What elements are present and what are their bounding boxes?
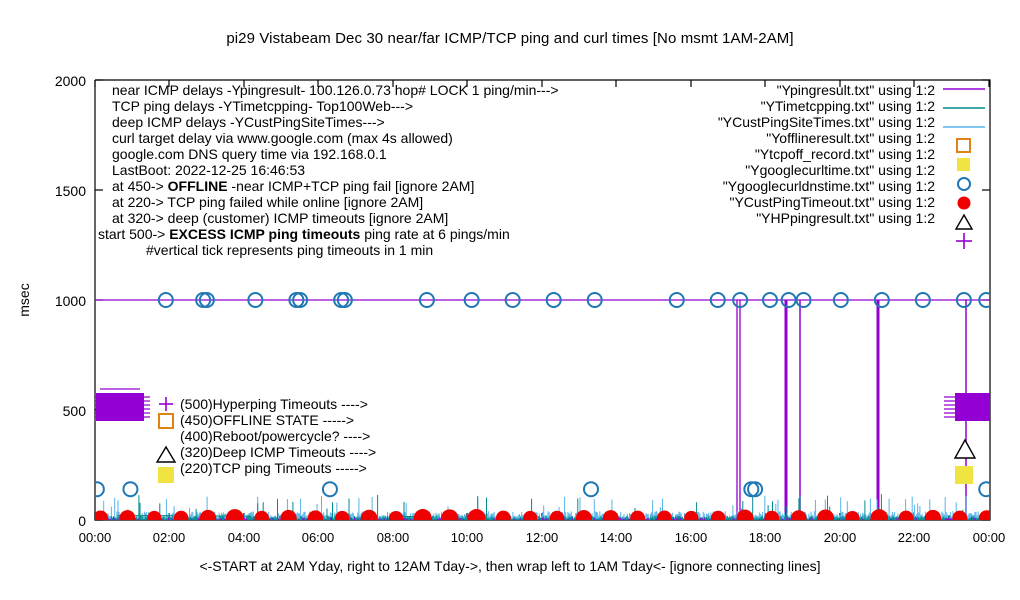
annotation-emphasis: EXCESS ICMP ping timeouts — [169, 226, 360, 242]
annotation-emphasis: OFFLINE — [168, 178, 228, 194]
legend-item-ytcpoff-record: "Ytcpoff_record.txt" using 1:2 — [600, 146, 935, 162]
annotation-line-excess: start 500-> EXCESS ICMP ping timeouts pi… — [98, 226, 559, 242]
legend-item-ygooglecurltime: "Ygooglecurltime.txt" using 1:2 — [600, 162, 935, 178]
annotation-line: TCP ping delays -YTimetcpping- Top100Web… — [112, 98, 559, 114]
legend-item-ycustpingtimeout: "YCustPingTimeout.txt" using 1:2 — [600, 194, 935, 210]
inner-key-item-deep-icmp: (320)Deep ICMP Timeouts ----> — [180, 444, 376, 460]
annotation-text-tail: ping rate at 6 pings/min — [360, 226, 509, 242]
annotation-line-vertical-tick: #vertical tick represents ping timeouts … — [146, 242, 559, 258]
legend-marker-ytcpoff-record — [957, 158, 970, 171]
annotation-line: at 320-> deep (customer) ICMP timeouts [… — [112, 210, 559, 226]
inner-key-marker-plus — [159, 397, 173, 411]
legend-item-ycustpingsitetimes: "YCustPingSiteTimes.txt" using 1:2 — [600, 114, 935, 130]
inner-key-item-tcp-ping: (220)TCP ping Timeouts -----> — [180, 460, 376, 476]
annotation-line: near ICMP delays -Ypingresult- 100.126.0… — [112, 82, 559, 98]
annotation-text-tail: -near ICMP+TCP ping fail [ignore 2AM] — [228, 178, 475, 194]
annotation-line: LastBoot: 2022-12-25 16:46:53 — [112, 162, 559, 178]
inner-key-marker-open-square — [159, 414, 173, 428]
annotation-line: curl target delay via www.google.com (ma… — [112, 130, 559, 146]
annotation-text: at 450-> — [112, 178, 168, 194]
legend-item-ytimetcpping: "YTimetcpping.txt" using 1:2 — [600, 98, 935, 114]
series-ycustpingtimeout — [955, 440, 975, 458]
inner-key: (500)Hyperping Timeouts ----> (450)OFFLI… — [180, 396, 376, 476]
annotation-block: near ICMP delays -Ypingresult- 100.126.0… — [112, 82, 559, 258]
annotation-line-offline: at 450-> OFFLINE -near ICMP+TCP ping fai… — [112, 178, 559, 194]
legend-markers — [943, 89, 985, 249]
inner-key-item-reboot: (400)Reboot/powercycle? ----> — [180, 428, 376, 444]
inner-key-item-hyperping: (500)Hyperping Timeouts ----> — [180, 396, 376, 412]
legend-item-ypingresult: "Ypingresult.txt" using 1:2 — [600, 82, 935, 98]
legend-marker-ycustpingtimeout — [956, 215, 972, 229]
inner-key-marker-open-triangle — [157, 447, 175, 462]
legend: "Ypingresult.txt" using 1:2 "YTimetcppin… — [600, 82, 935, 226]
legend-item-yofflineresult: "Yofflineresult.txt" using 1:2 — [600, 130, 935, 146]
legend-marker-ygooglecurldnstime — [958, 197, 971, 210]
series-ytcpoff-record — [955, 466, 973, 484]
legend-marker-yofflineresult — [957, 139, 970, 152]
annotation-line: deep ICMP delays -YCustPingSiteTimes---> — [112, 114, 559, 130]
ping-latency-chart: pi29 Vistabeam Dec 30 near/far ICMP/TCP … — [0, 0, 1020, 600]
annotation-line: at 220-> TCP ping failed while online [i… — [112, 194, 559, 210]
inner-key-markers — [157, 397, 175, 483]
legend-item-yhppingresult: "YHPpingresult.txt" using 1:2 — [600, 210, 935, 226]
inner-key-item-offline: (450)OFFLINE STATE -----> — [180, 412, 376, 428]
inner-key-marker-filled-square — [158, 467, 174, 483]
annotation-text: start 500-> — [98, 226, 169, 242]
annotation-line: google.com DNS query time via 192.168.0.… — [112, 146, 559, 162]
legend-marker-ygooglecurltime — [958, 178, 970, 190]
legend-marker-yhppingresult — [956, 233, 972, 249]
legend-item-ygooglecurldnstime: "Ygooglecurldnstime.txt" using 1:2 — [600, 178, 935, 194]
